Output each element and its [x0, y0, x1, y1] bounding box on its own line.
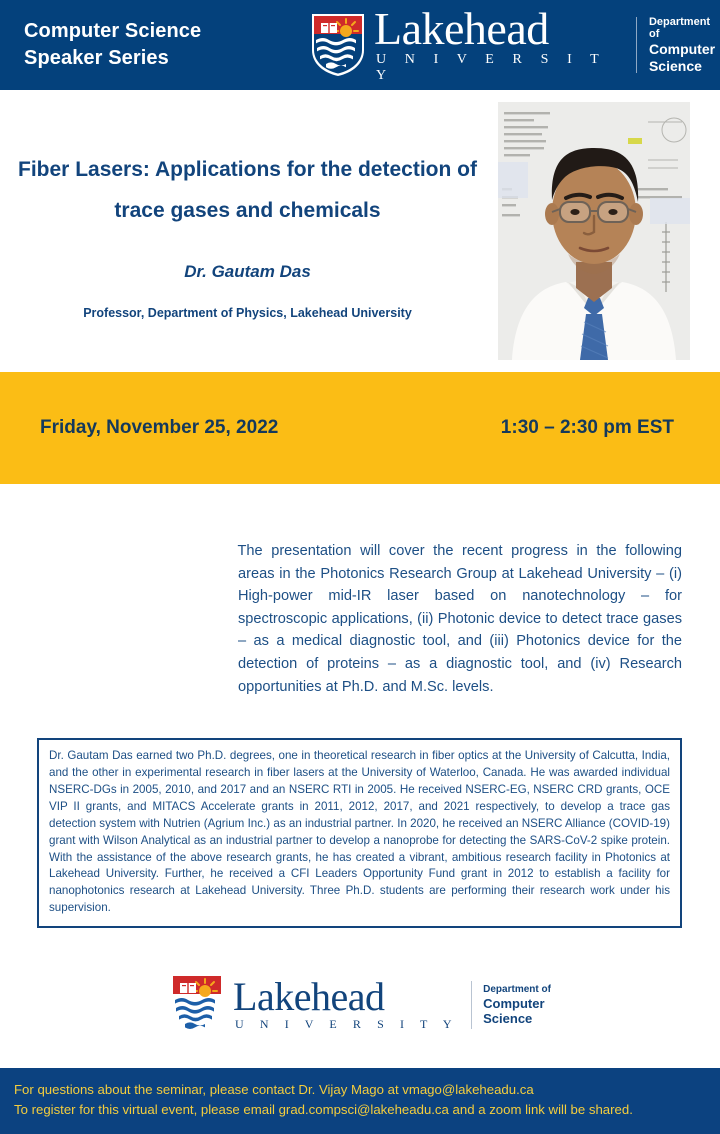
department-science-label: Science [649, 58, 720, 75]
speaker-bio-text: Dr. Gautam Das earned two Ph.D. degrees,… [49, 748, 670, 917]
lakehead-logo-header: Lakehead U N I V E R S I T Y Department … [310, 6, 720, 84]
lakehead-shield-icon-footer [169, 972, 225, 1038]
lakehead-university-text: U N I V E R S I T Y [376, 52, 622, 84]
speaker-portrait-photo [498, 102, 690, 360]
lakehead-university-text-footer: U N I V E R S I T Y [235, 1017, 458, 1032]
talk-title: Fiber Lasers: Applications for the detec… [0, 150, 495, 232]
department-lockup-footer: Department of Computer Science [483, 984, 551, 1026]
lakehead-wordmark-text: Lakehead [374, 7, 622, 51]
speaker-bio-box: Dr. Gautam Das earned two Ph.D. degrees,… [37, 738, 682, 928]
department-computer-label: Computer [649, 41, 720, 58]
event-time: 1:30 – 2:30 pm EST [501, 417, 674, 439]
event-date: Friday, November 25, 2022 [40, 417, 278, 439]
logo-divider [636, 17, 637, 73]
portrait-illustration [498, 102, 690, 360]
speaker-affiliation: Professor, Department of Physics, Lakehe… [0, 306, 495, 320]
department-computer-label-footer: Computer [483, 996, 551, 1011]
contact-line-questions: For questions about the seminar, please … [14, 1068, 720, 1100]
lakehead-wordmark-text-footer: Lakehead [233, 978, 458, 1016]
contact-line-register: To register for this virtual event, plea… [14, 1100, 720, 1120]
abstract-text: The presentation will cover the recent p… [238, 540, 682, 698]
department-lockup-header: Department of Computer Science [649, 16, 720, 75]
department-science-label-footer: Science [483, 1011, 551, 1026]
lakehead-logo-footer: Lakehead U N I V E R S I T Y Department … [0, 972, 720, 1038]
poster-header: Computer Science Speaker Series [0, 0, 720, 90]
lakehead-wordmark-footer: Lakehead U N I V E R S I T Y [233, 978, 458, 1032]
speaker-name: Dr. Gautam Das [0, 262, 495, 282]
speaker-series-title: Computer Science Speaker Series [24, 18, 201, 72]
department-of-label-footer: Department of [483, 984, 551, 996]
talk-info-block: Fiber Lasers: Applications for the detec… [0, 150, 495, 320]
lakehead-wordmark: Lakehead U N I V E R S I T Y [374, 7, 622, 84]
lakehead-shield-icon [310, 12, 366, 78]
contact-footer: For questions about the seminar, please … [0, 1068, 720, 1134]
department-of-label: Department of [649, 16, 720, 42]
event-datetime-band: Friday, November 25, 2022 1:30 – 2:30 pm… [0, 372, 720, 484]
logo-divider-footer [471, 981, 472, 1029]
